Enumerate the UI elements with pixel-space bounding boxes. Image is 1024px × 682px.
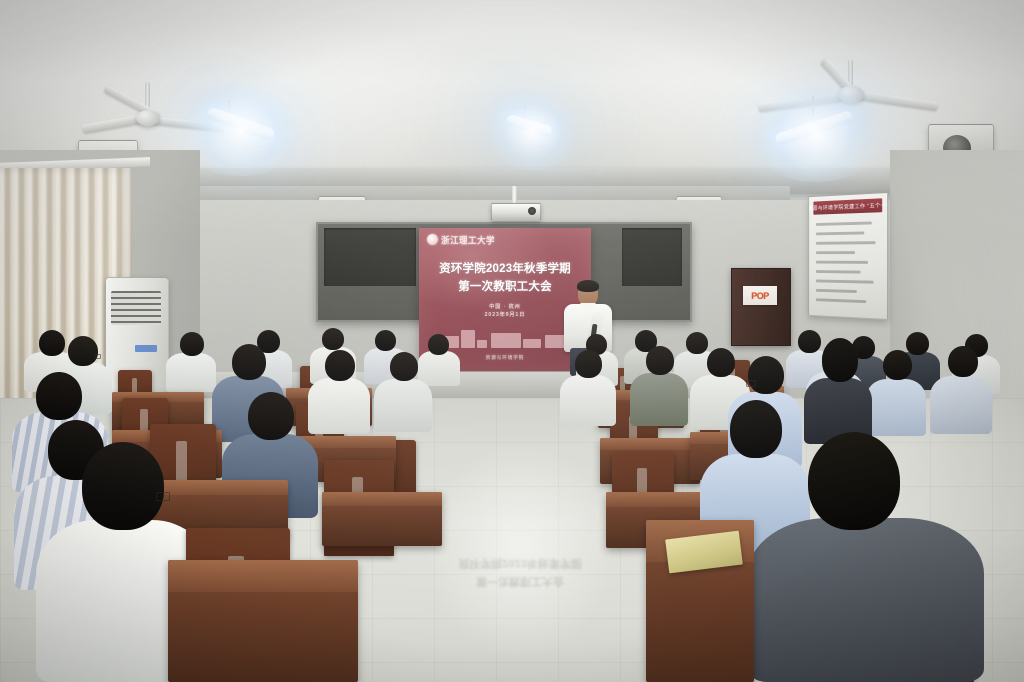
audience-head xyxy=(180,332,204,356)
poster-text-line xyxy=(816,251,855,254)
audience-head xyxy=(248,392,294,440)
blackboard-panel-left xyxy=(324,228,416,286)
audience-head xyxy=(390,352,418,381)
audience-head xyxy=(646,346,674,375)
audience-member xyxy=(166,332,216,392)
audience-body xyxy=(630,373,688,426)
slide-title-line1: 资环学院2023年秋季学期 xyxy=(419,260,591,276)
skyline-shape xyxy=(477,340,487,348)
audience-head xyxy=(322,328,344,350)
poster-header-text: 资源与环境学院党建工作 "五个一" xyxy=(808,201,888,212)
meeting-room-photo: 浙江理工大学 资环学院2023年秋季学期 第一次教职工大会 中国 · 杭州 20… xyxy=(0,0,1024,682)
audience-head xyxy=(325,350,355,381)
university-seal-icon xyxy=(427,234,438,245)
audience-head xyxy=(748,356,784,394)
desk-foreground[interactable] xyxy=(168,560,358,682)
audience-head xyxy=(232,344,266,380)
audience-head xyxy=(68,336,98,366)
wall-poster-board[interactable]: 资源与环境学院党建工作 "五个一" xyxy=(808,192,888,320)
fan-motor xyxy=(136,110,160,126)
audience-member xyxy=(374,352,432,432)
blackboard-panel-right xyxy=(622,228,682,286)
audience-head xyxy=(82,442,164,530)
audience-body xyxy=(166,353,216,392)
desk-surface xyxy=(322,492,442,506)
audience-member xyxy=(630,346,688,426)
poster-text-line xyxy=(816,289,857,293)
floor-ac-badge xyxy=(135,345,157,352)
audience-body xyxy=(866,379,926,436)
audience-body xyxy=(930,376,992,434)
presenter-hair xyxy=(577,280,599,292)
audience-head xyxy=(36,372,82,420)
eyeglasses-icon xyxy=(94,354,101,359)
audience-head xyxy=(822,338,858,382)
audience-member xyxy=(930,346,992,434)
audience-head xyxy=(808,432,900,530)
audience-head xyxy=(883,350,912,380)
eyeglasses-icon xyxy=(746,380,756,387)
desk-surface xyxy=(168,560,358,592)
audience-head xyxy=(375,330,396,351)
desk-surface xyxy=(600,438,700,450)
poster-text-line xyxy=(816,298,866,303)
fan-motor xyxy=(838,86,864,103)
slide-university-logo: 浙江理工大学 xyxy=(427,233,513,246)
poster-text-line xyxy=(816,270,861,273)
poster-text-line xyxy=(816,280,874,284)
poster-text-line xyxy=(816,261,868,264)
audience-head xyxy=(575,350,602,378)
audience-body xyxy=(560,375,616,426)
tube-light-hanger xyxy=(812,96,814,116)
audience-head xyxy=(948,346,978,377)
ceiling-fan-right xyxy=(770,60,940,124)
audience-body xyxy=(748,518,984,682)
audience-member xyxy=(866,350,926,436)
desk[interactable] xyxy=(322,492,442,546)
floor-ac-vent xyxy=(111,291,161,325)
poster-text-line xyxy=(816,241,876,245)
fan-blade xyxy=(758,93,842,112)
university-name: 浙江理工大学 xyxy=(441,233,495,246)
skyline-shape xyxy=(491,333,521,348)
poster-text-line xyxy=(816,221,872,225)
poster-header: 资源与环境学院党建工作 "五个一" xyxy=(813,198,882,214)
poster-text-line xyxy=(816,231,864,235)
eyeglasses-icon xyxy=(156,492,170,501)
audience-member xyxy=(804,338,872,444)
audience-body xyxy=(374,379,432,432)
skyline-shape xyxy=(461,330,475,348)
door-sign-text: POP xyxy=(751,291,769,301)
projector-lens-icon xyxy=(528,207,536,215)
audience-member xyxy=(560,350,616,426)
fan-blade xyxy=(852,90,938,111)
side-door[interactable] xyxy=(731,268,791,346)
door-sign: POP xyxy=(743,286,777,305)
skyline-shape xyxy=(523,339,541,348)
audience-member-foreground xyxy=(748,432,984,682)
